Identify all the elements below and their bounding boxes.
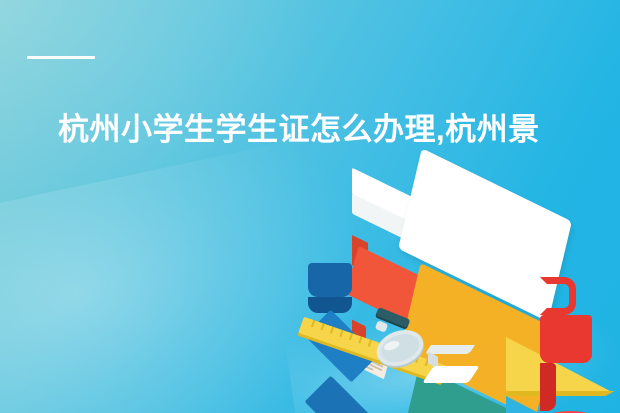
decorative-underline xyxy=(27,56,95,59)
article-cover-banner: 杭州小学生学生证怎么办理,杭州景 xyxy=(0,0,620,413)
ruler-tick xyxy=(311,320,315,327)
ruler-tick xyxy=(330,326,334,333)
eraser-front xyxy=(425,345,475,354)
ruler-tick xyxy=(358,336,362,343)
ruler-tick xyxy=(321,323,325,330)
eraser-icon xyxy=(428,345,484,375)
page-title: 杭州小学生学生证怎么办理,杭州景 xyxy=(58,108,620,156)
education-desk-illustration xyxy=(300,185,620,413)
cap-crown xyxy=(308,263,352,297)
mug-body xyxy=(540,315,592,363)
magnifier-grip xyxy=(375,320,389,332)
mug-handle xyxy=(540,277,576,315)
triangle-edge xyxy=(501,391,614,396)
mug-body-shade xyxy=(540,363,556,411)
coffee-mug-icon xyxy=(540,277,618,359)
ruler-tick xyxy=(368,340,372,347)
ruler-tick xyxy=(349,333,353,340)
ruler-tick xyxy=(339,330,343,337)
